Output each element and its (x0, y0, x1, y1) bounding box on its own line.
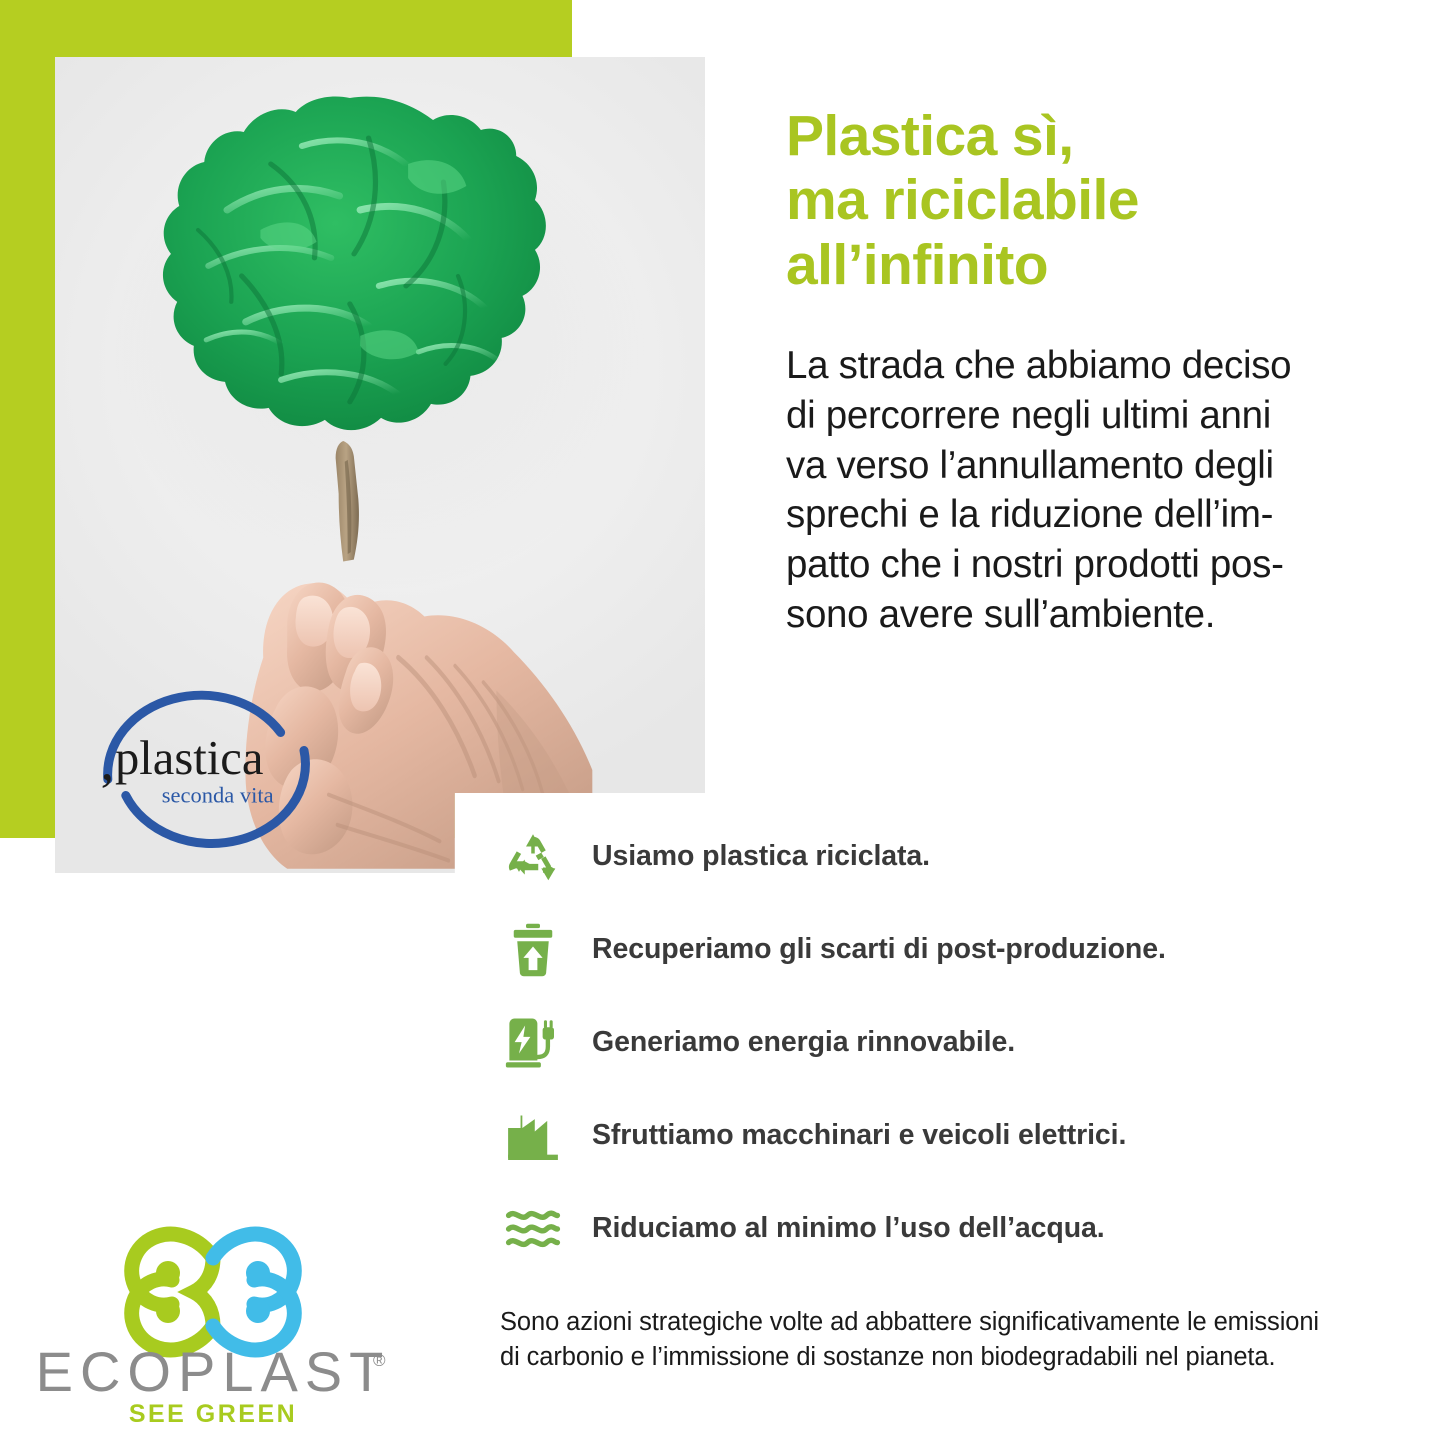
list-item-label: Riduciamo al minimo l’uso dell’acqua. (592, 1212, 1105, 1245)
content-panel: Usiamo plastica riciclata. Recuperiamo g… (455, 793, 1445, 1445)
svg-text:seconda vita: seconda vita (161, 782, 273, 807)
plastic-bag-canopy-icon (146, 90, 562, 490)
footnote-paragraph: Sono azioni strategiche volte ad abbatte… (500, 1305, 1400, 1375)
page-title: Plastica sì, ma riciclabile all’infinito (786, 104, 1386, 297)
ecoplast-logo: ECOPLAST ® SEE GREEN (28, 1196, 398, 1428)
list-item: Sfruttiamo macchinari e veicoli elettric… (500, 1089, 1430, 1182)
benefits-list: Usiamo plastica riciclata. Recuperiamo g… (500, 810, 1430, 1275)
poster-canvas: , plastica seconda vita Plastica sì, ma … (0, 0, 1445, 1445)
ev-charger-icon (500, 1012, 566, 1074)
list-item: Usiamo plastica riciclata. (500, 810, 1430, 903)
list-item: Recuperiamo gli scarti di post-produzion… (500, 903, 1430, 996)
recover-waste-icon (500, 919, 566, 981)
hero-photo: , plastica seconda vita (55, 57, 705, 873)
water-waves-icon (500, 1198, 566, 1260)
list-item-label: Generiamo energia rinnovabile. (592, 1026, 1015, 1059)
right-text-column: Plastica sì, ma riciclabile all’infinito… (786, 104, 1386, 639)
factory-icon (500, 1105, 566, 1167)
svg-text:ECOPLAST: ECOPLAST (36, 1340, 391, 1403)
list-item-label: Usiamo plastica riciclata. (592, 840, 930, 873)
list-item: Generiamo energia rinnovabile. (500, 996, 1430, 1089)
svg-text:SEE GREEN: SEE GREEN (129, 1400, 297, 1428)
lead-paragraph: La strada che abbiamo deciso di percorre… (786, 341, 1386, 639)
list-item-label: Sfruttiamo macchinari e veicoli elettric… (592, 1119, 1126, 1152)
svg-text:plastica: plastica (115, 731, 263, 785)
plastica-seconda-vita-logo: , plastica seconda vita (88, 657, 322, 869)
recycle-icon (500, 826, 566, 888)
svg-text:,: , (100, 731, 114, 791)
svg-text:®: ® (373, 1351, 386, 1370)
list-item-label: Recuperiamo gli scarti di post-produzion… (592, 933, 1166, 966)
list-item: Riduciamo al minimo l’uso dell’acqua. (500, 1182, 1430, 1275)
